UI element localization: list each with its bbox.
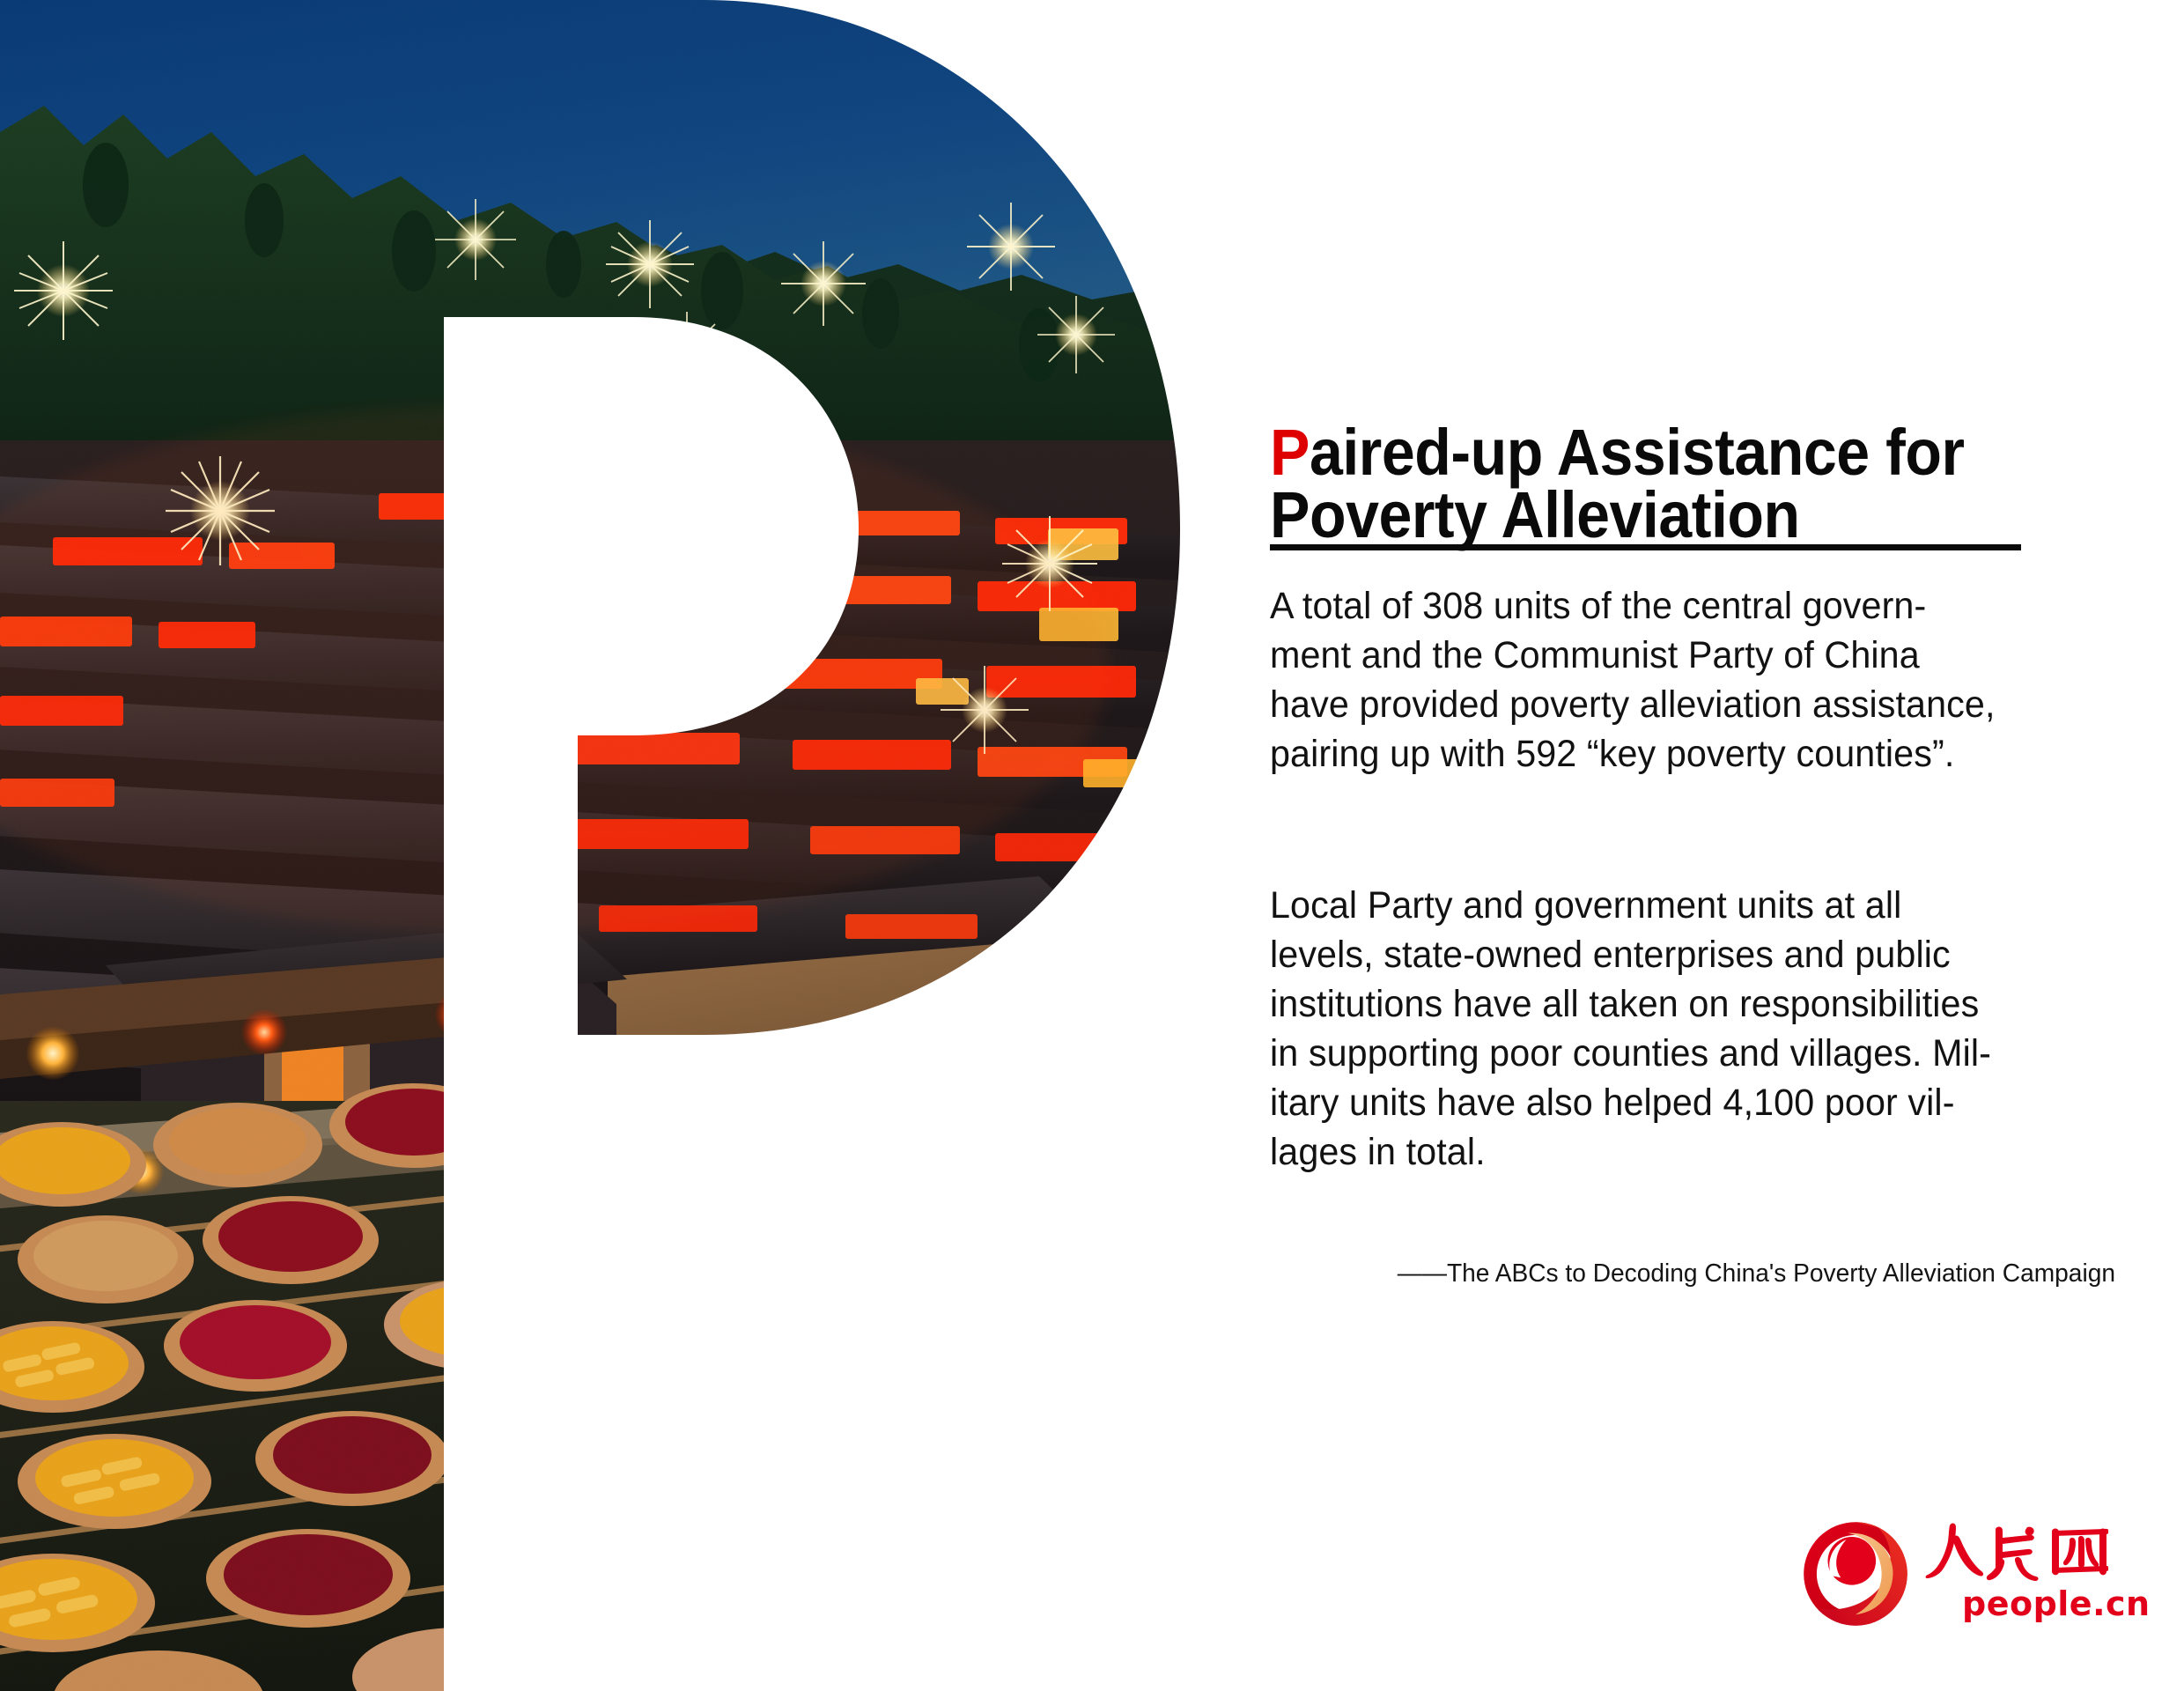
paragraph-2-line-1: Local Party and government units at all (1270, 881, 2031, 930)
paragraph-2-line-5: itary units have also helped 4,100 poor … (1270, 1078, 2031, 1127)
people-cn-logo[interactable]: people.cn (1800, 1518, 2108, 1642)
content-column: Paired-up Assistance for Poverty Allevia… (1270, 0, 2115, 1691)
paragraph-1-line-2: ment and the Communist Party of China (1270, 631, 2031, 680)
people-cn-chinese-wordmark (1923, 1520, 2108, 1584)
straw-bundles (528, 1170, 1164, 1573)
paragraph-2-line-3: institutions have all taken on responsib… (1270, 979, 2031, 1029)
people-cn-swirl-icon (1800, 1518, 1911, 1629)
headline-line-1: Paired-up Assistance for (1270, 421, 2047, 484)
paragraph-1-line-4: pairing up with 592 “key poverty countie… (1270, 729, 2031, 779)
photo-grain (0, 0, 1180, 1691)
page-title: Paired-up Assistance for Poverty Allevia… (1270, 421, 2047, 546)
headline-line-2: Poverty Alleviation (1270, 484, 2047, 546)
village-photo-panel (0, 0, 1180, 1691)
people-cn-latin-wordmark: people.cn (1962, 1585, 2151, 1622)
poster-canvas: Paired-up Assistance for Poverty Allevia… (0, 0, 2184, 1691)
title-divider-rule (1270, 544, 2021, 550)
paragraph-1-line-1: A total of 308 units of the central gove… (1270, 581, 2031, 631)
paragraph-1-line-3: have provided poverty alleviation assist… (1270, 680, 2031, 729)
body-paragraph-1: A total of 308 units of the central gove… (1270, 581, 2031, 779)
village-photo-svg (0, 0, 1180, 1691)
source-attribution: ——The ABCs to Decoding China's Poverty A… (1295, 1256, 2115, 1291)
logo-wordmark: people.cn (1923, 1518, 2151, 1622)
paragraph-2-line-4: in supporting poor counties and villages… (1270, 1029, 2031, 1078)
body-paragraph-2: Local Party and government units at all … (1270, 881, 2031, 1177)
paragraph-2-line-2: levels, state-owned enterprises and publ… (1270, 930, 2031, 979)
paragraph-2-line-6: lages in total. (1270, 1127, 2031, 1177)
photo-content (0, 0, 1180, 1691)
